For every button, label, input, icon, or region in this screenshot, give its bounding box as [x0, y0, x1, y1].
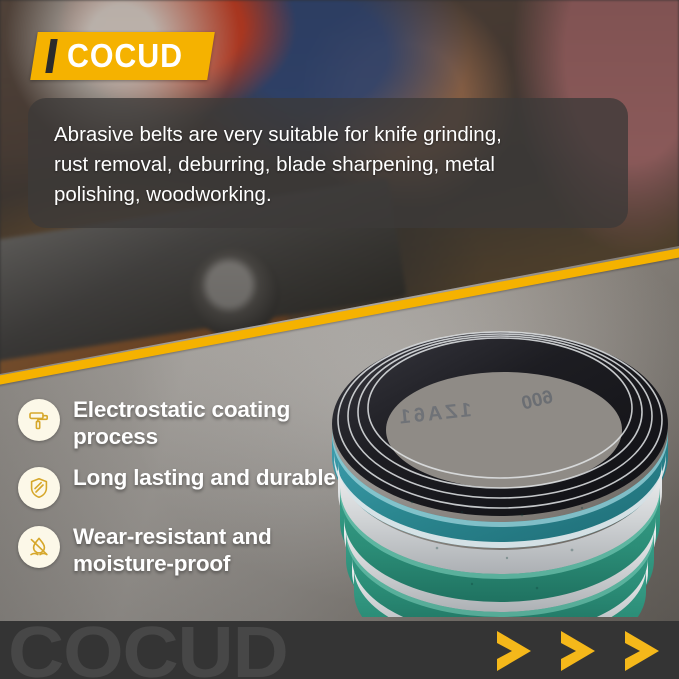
chevron-right-icon	[491, 629, 537, 673]
description-card: Abrasive belts are very suitable for kni…	[28, 98, 628, 228]
shield-icon	[18, 467, 60, 509]
paint-roller-icon	[18, 399, 60, 441]
logo-slash-icon	[45, 39, 57, 73]
feature-label: Electrostatic coating process	[73, 396, 348, 450]
feature-list: Electrostatic coating process Long lasti…	[18, 396, 348, 591]
moisture-proof-icon	[18, 526, 60, 568]
chevron-right-icon	[619, 629, 665, 673]
logo-text: COCUD	[67, 39, 183, 73]
feature-label: Long lasting and durable	[73, 464, 336, 491]
description-text: Abrasive belts are very suitable for kni…	[54, 120, 602, 210]
feature-item: Wear-resistant and moisture-proof	[18, 523, 348, 577]
chevron-group	[491, 629, 665, 673]
logo-banner: COCUD	[30, 32, 215, 80]
feature-item: Long lasting and durable	[18, 464, 348, 509]
product-infographic: COCUD Abrasive belts are very suitable f…	[0, 0, 679, 679]
product-image-sanding-belts: 1ZA61 600	[322, 312, 679, 617]
brand-logo: COCUD	[34, 32, 211, 80]
bottom-bar: COCUD	[0, 621, 679, 679]
brand-watermark: COCUD	[8, 621, 288, 679]
feature-label: Wear-resistant and moisture-proof	[73, 523, 348, 577]
chevron-right-icon	[555, 629, 601, 673]
feature-item: Electrostatic coating process	[18, 396, 348, 450]
